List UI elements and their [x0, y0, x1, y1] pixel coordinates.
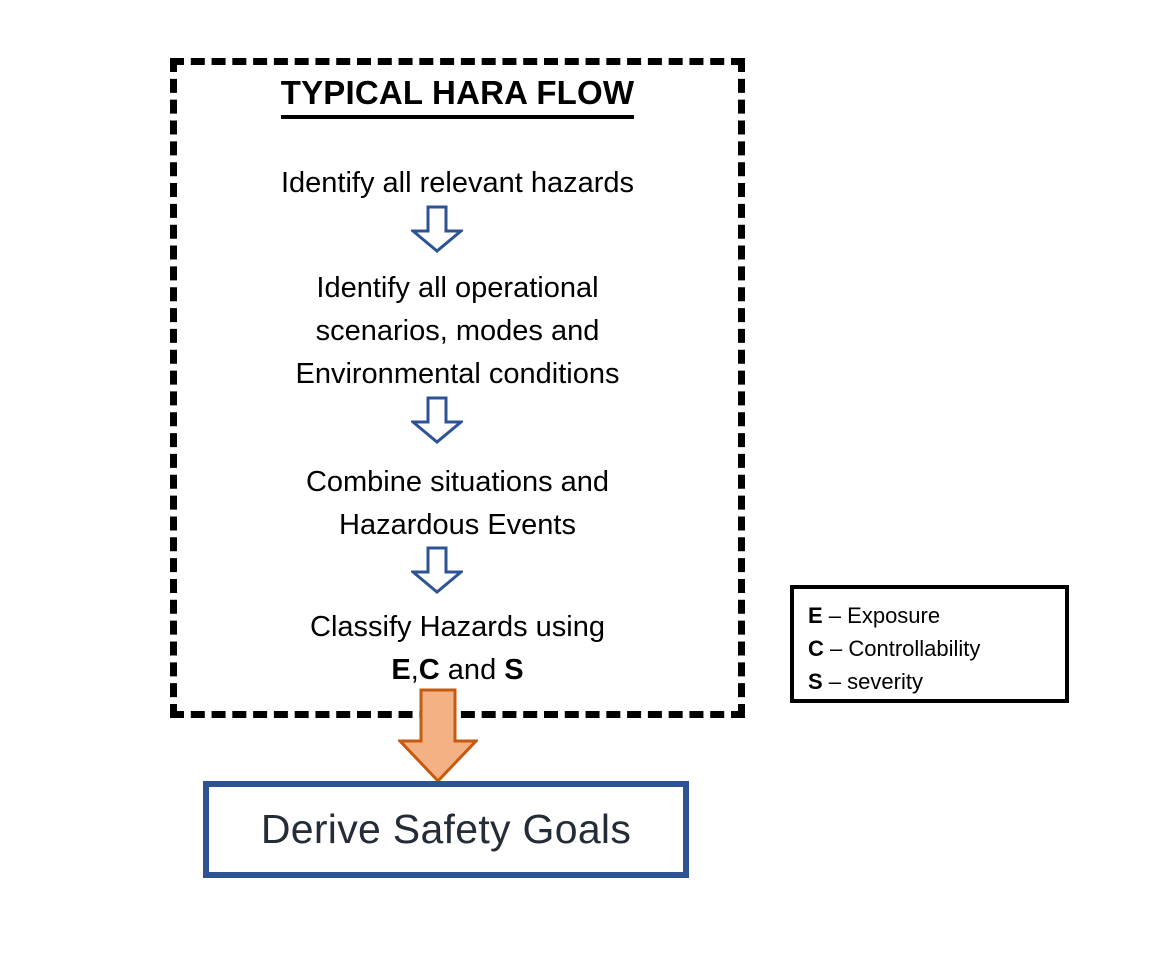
legend-dash: –	[824, 636, 848, 661]
legend-dash: –	[823, 603, 847, 628]
flow-step-combine-situations: Combine situations and Hazardous Events	[170, 461, 745, 547]
legend-key: S	[808, 669, 823, 694]
ecs-and: and	[440, 654, 505, 686]
flow-step-line: Combine situations and	[170, 461, 745, 504]
down-arrow-icon	[411, 546, 463, 594]
legend-row: E – Exposure	[808, 599, 1065, 632]
legend-row: S – severity	[808, 665, 1065, 698]
flow-step-classify-hazards: Classify Hazards using E,C and S	[170, 606, 745, 692]
flow-step-line: Classify Hazards using	[170, 606, 745, 649]
down-arrow-icon	[411, 396, 463, 444]
flow-step-line: Identify all relevant hazards	[170, 162, 745, 205]
flow-step-line: Identify all operational	[170, 267, 745, 310]
derive-safety-goals-label: Derive Safety Goals	[261, 806, 631, 853]
legend-key: E	[808, 603, 823, 628]
legend-key: C	[808, 636, 824, 661]
flow-step-line: scenarios, modes and	[170, 310, 745, 353]
ecs-s: S	[504, 654, 523, 686]
legend-description: severity	[847, 669, 923, 694]
ecs-c: C	[419, 654, 440, 686]
ecs-comma: ,	[411, 654, 419, 686]
page-title: TYPICAL HARA FLOW	[170, 74, 745, 119]
flow-step-identify-scenarios: Identify all operational scenarios, mode…	[170, 267, 745, 396]
page-title-text: TYPICAL HARA FLOW	[281, 74, 635, 119]
derive-safety-goals-box: Derive Safety Goals	[203, 781, 689, 878]
ecs-e: E	[391, 654, 410, 686]
flow-step-line: Environmental conditions	[170, 353, 745, 396]
orange-down-arrow-icon	[398, 688, 478, 784]
flow-step-line-ecs: E,C and S	[170, 649, 745, 692]
legend-dash: –	[823, 669, 847, 694]
legend-box: E – Exposure C – Controllability S – sev…	[790, 585, 1069, 703]
flow-step-identify-hazards: Identify all relevant hazards	[170, 162, 745, 205]
down-arrow-icon	[411, 205, 463, 253]
flow-step-line: Hazardous Events	[170, 504, 745, 547]
legend-description: Exposure	[847, 603, 940, 628]
legend-description: Controllability	[848, 636, 980, 661]
legend-row: C – Controllability	[808, 632, 1065, 665]
